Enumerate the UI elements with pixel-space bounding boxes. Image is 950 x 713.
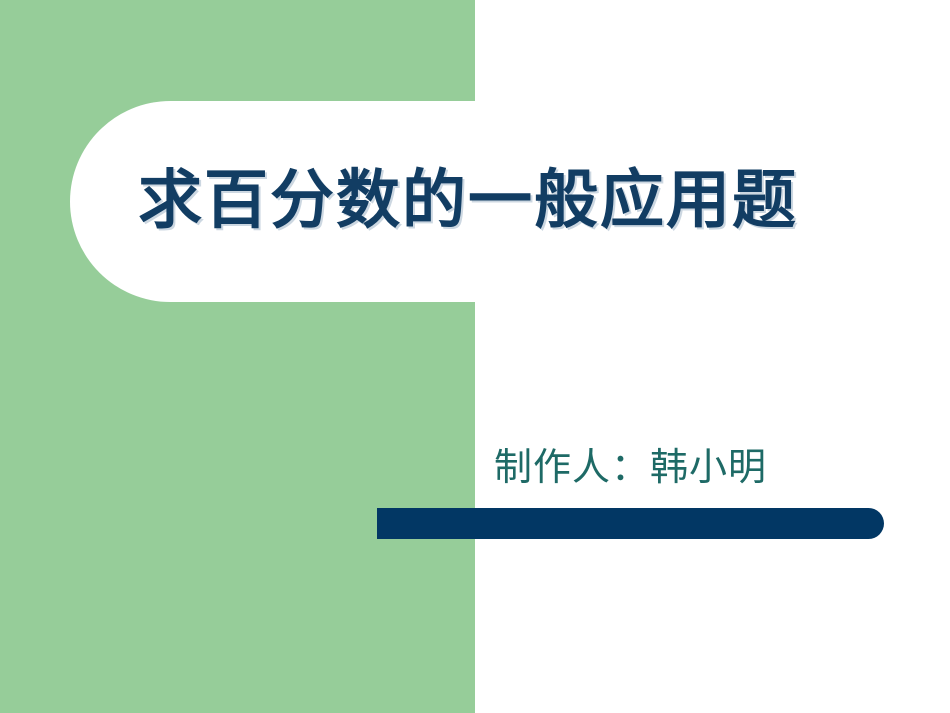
accent-bar bbox=[377, 508, 884, 539]
slide-title: 求百分数的一般应用题 bbox=[138, 149, 898, 254]
slide-subtitle: 制作人：韩小明 bbox=[494, 438, 894, 488]
title-slide: 求百分数的一般应用题 制作人：韩小明 bbox=[0, 0, 950, 713]
